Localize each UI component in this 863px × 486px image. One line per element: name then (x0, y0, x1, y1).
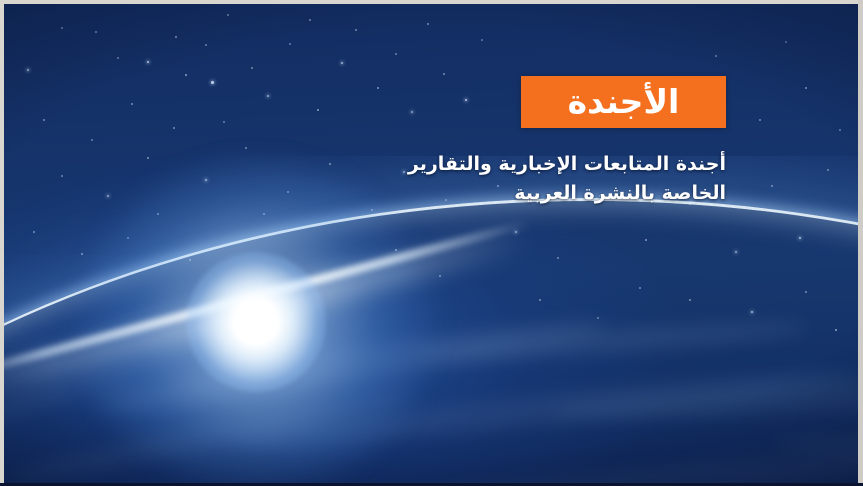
scene-vignette (0, 0, 863, 486)
headline-block: الأجندة أجندة المتابعات الإخبارية والتقا… (386, 76, 726, 209)
subtitle: أجندة المتابعات الإخبارية والتقارير الخا… (386, 150, 726, 209)
title-badge: الأجندة (521, 76, 726, 128)
subtitle-line-2: الخاصة بالنشرة العربية (386, 179, 726, 208)
subtitle-line-1: أجندة المتابعات الإخبارية والتقارير (386, 150, 726, 179)
presentation-slide: الأجندة أجندة المتابعات الإخبارية والتقا… (0, 0, 863, 486)
